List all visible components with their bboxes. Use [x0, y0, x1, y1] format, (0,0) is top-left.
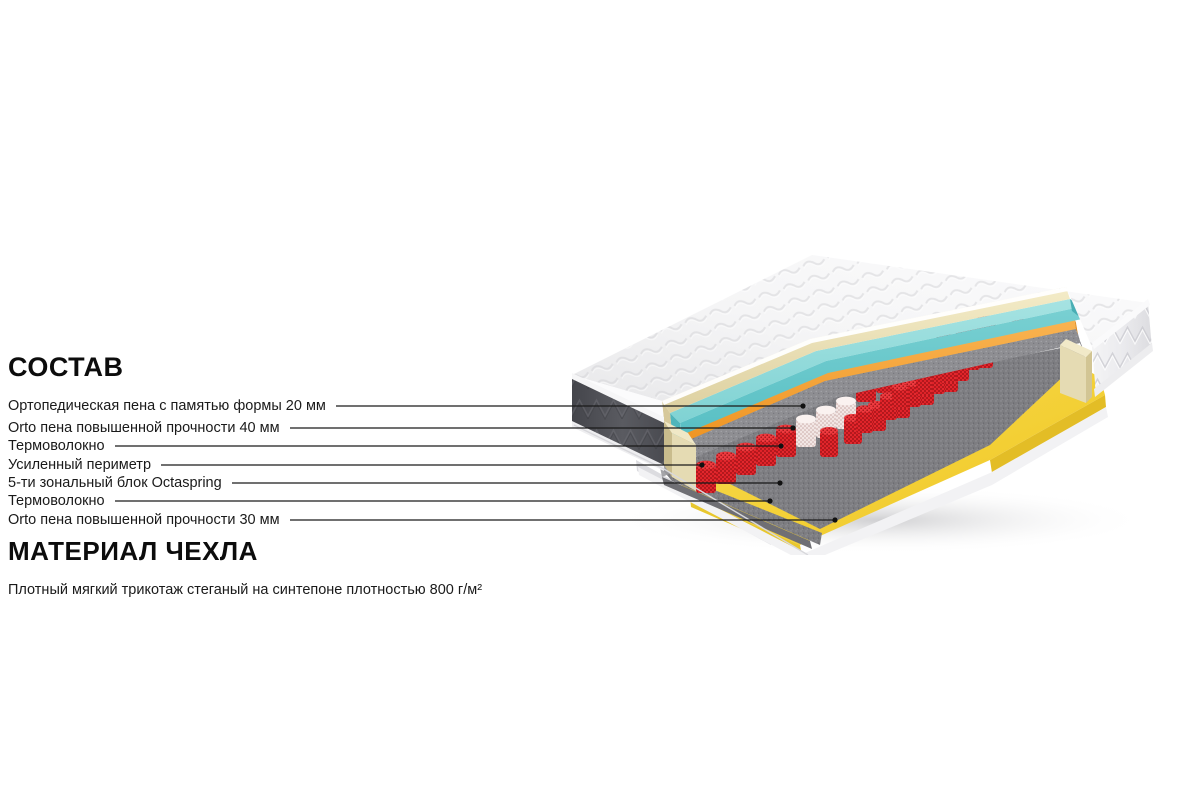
spec-item-thermo-fiber-lower: Термоволокно: [8, 494, 105, 509]
mattress-cutaway-illustration: [520, 245, 1191, 555]
spec-item-memory-foam: Ортопедическая пена с памятью формы 20 м…: [8, 399, 326, 414]
page-title-cover-material: МАТЕРИАЛ ЧЕХЛА: [8, 536, 258, 567]
spec-item-orto-foam-lower: Orto пена повышенной прочности 30 мм: [8, 513, 280, 528]
spec-item-octaspring-block: 5-ти зональный блок Octaspring: [8, 476, 222, 491]
page-title-composition: СОСТАВ: [8, 352, 123, 383]
spec-item-reinforced-perimeter: Усиленный периметр: [8, 458, 151, 473]
page-root: СОСТАВ Ортопедическая пена с памятью фор…: [0, 0, 1191, 794]
cover-material-description: Плотный мягкий трикотаж стеганый на синт…: [8, 582, 482, 598]
spec-item-thermo-fiber-upper: Термоволокно: [8, 439, 105, 454]
spec-item-orto-foam-upper: Orto пена повышенной прочности 40 мм: [8, 421, 280, 436]
